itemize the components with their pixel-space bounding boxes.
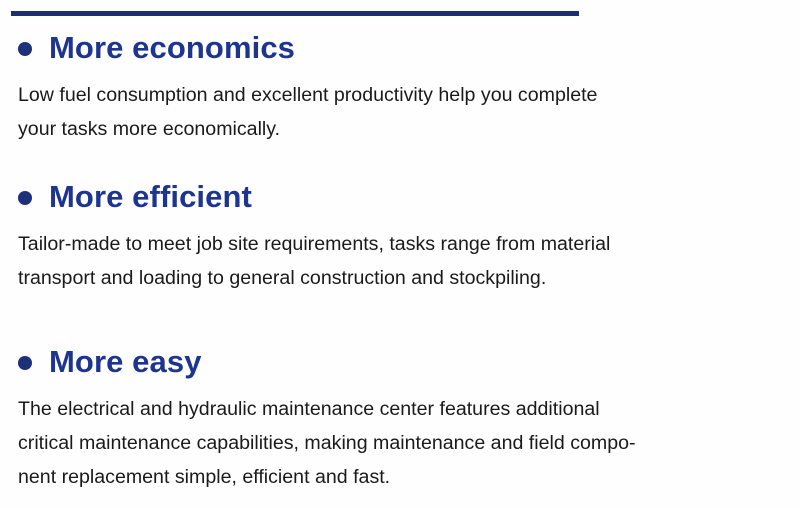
feature-body-text: Tailor-made to meet job site requirement… (0, 219, 800, 295)
feature-heading-label: More economics (49, 30, 295, 66)
feature-heading-label: More easy (49, 344, 202, 380)
body-line: your tasks more economically. (18, 112, 800, 146)
body-line: critical maintenance capabilities, makin… (18, 426, 800, 460)
feature-heading-row: More efficient (0, 175, 800, 219)
body-line: nent replacement simple, efficient and f… (18, 460, 800, 494)
feature-heading-row: More easy (0, 340, 800, 384)
feature-heading-label: More efficient (49, 179, 252, 215)
header-divider-rule (11, 11, 579, 16)
filled-circle-bullet-icon (18, 42, 32, 56)
feature-section-more-economics: More economics Low fuel consumption and … (0, 26, 800, 146)
filled-circle-bullet-icon (18, 356, 32, 370)
body-line: transport and loading to general constru… (18, 261, 800, 295)
body-line: The electrical and hydraulic maintenance… (18, 392, 800, 426)
feature-section-more-easy: More easy The electrical and hydraulic m… (0, 340, 800, 494)
document-page: More economics Low fuel consumption and … (0, 0, 800, 508)
feature-body-text: Low fuel consumption and excellent produ… (0, 70, 800, 146)
body-line: Low fuel consumption and excellent produ… (18, 78, 800, 112)
filled-circle-bullet-icon (18, 191, 32, 205)
body-line: Tailor-made to meet job site requirement… (18, 227, 800, 261)
feature-section-more-efficient: More efficient Tailor-made to meet job s… (0, 175, 800, 295)
feature-body-text: The electrical and hydraulic maintenance… (0, 384, 800, 494)
feature-heading-row: More economics (0, 26, 800, 70)
